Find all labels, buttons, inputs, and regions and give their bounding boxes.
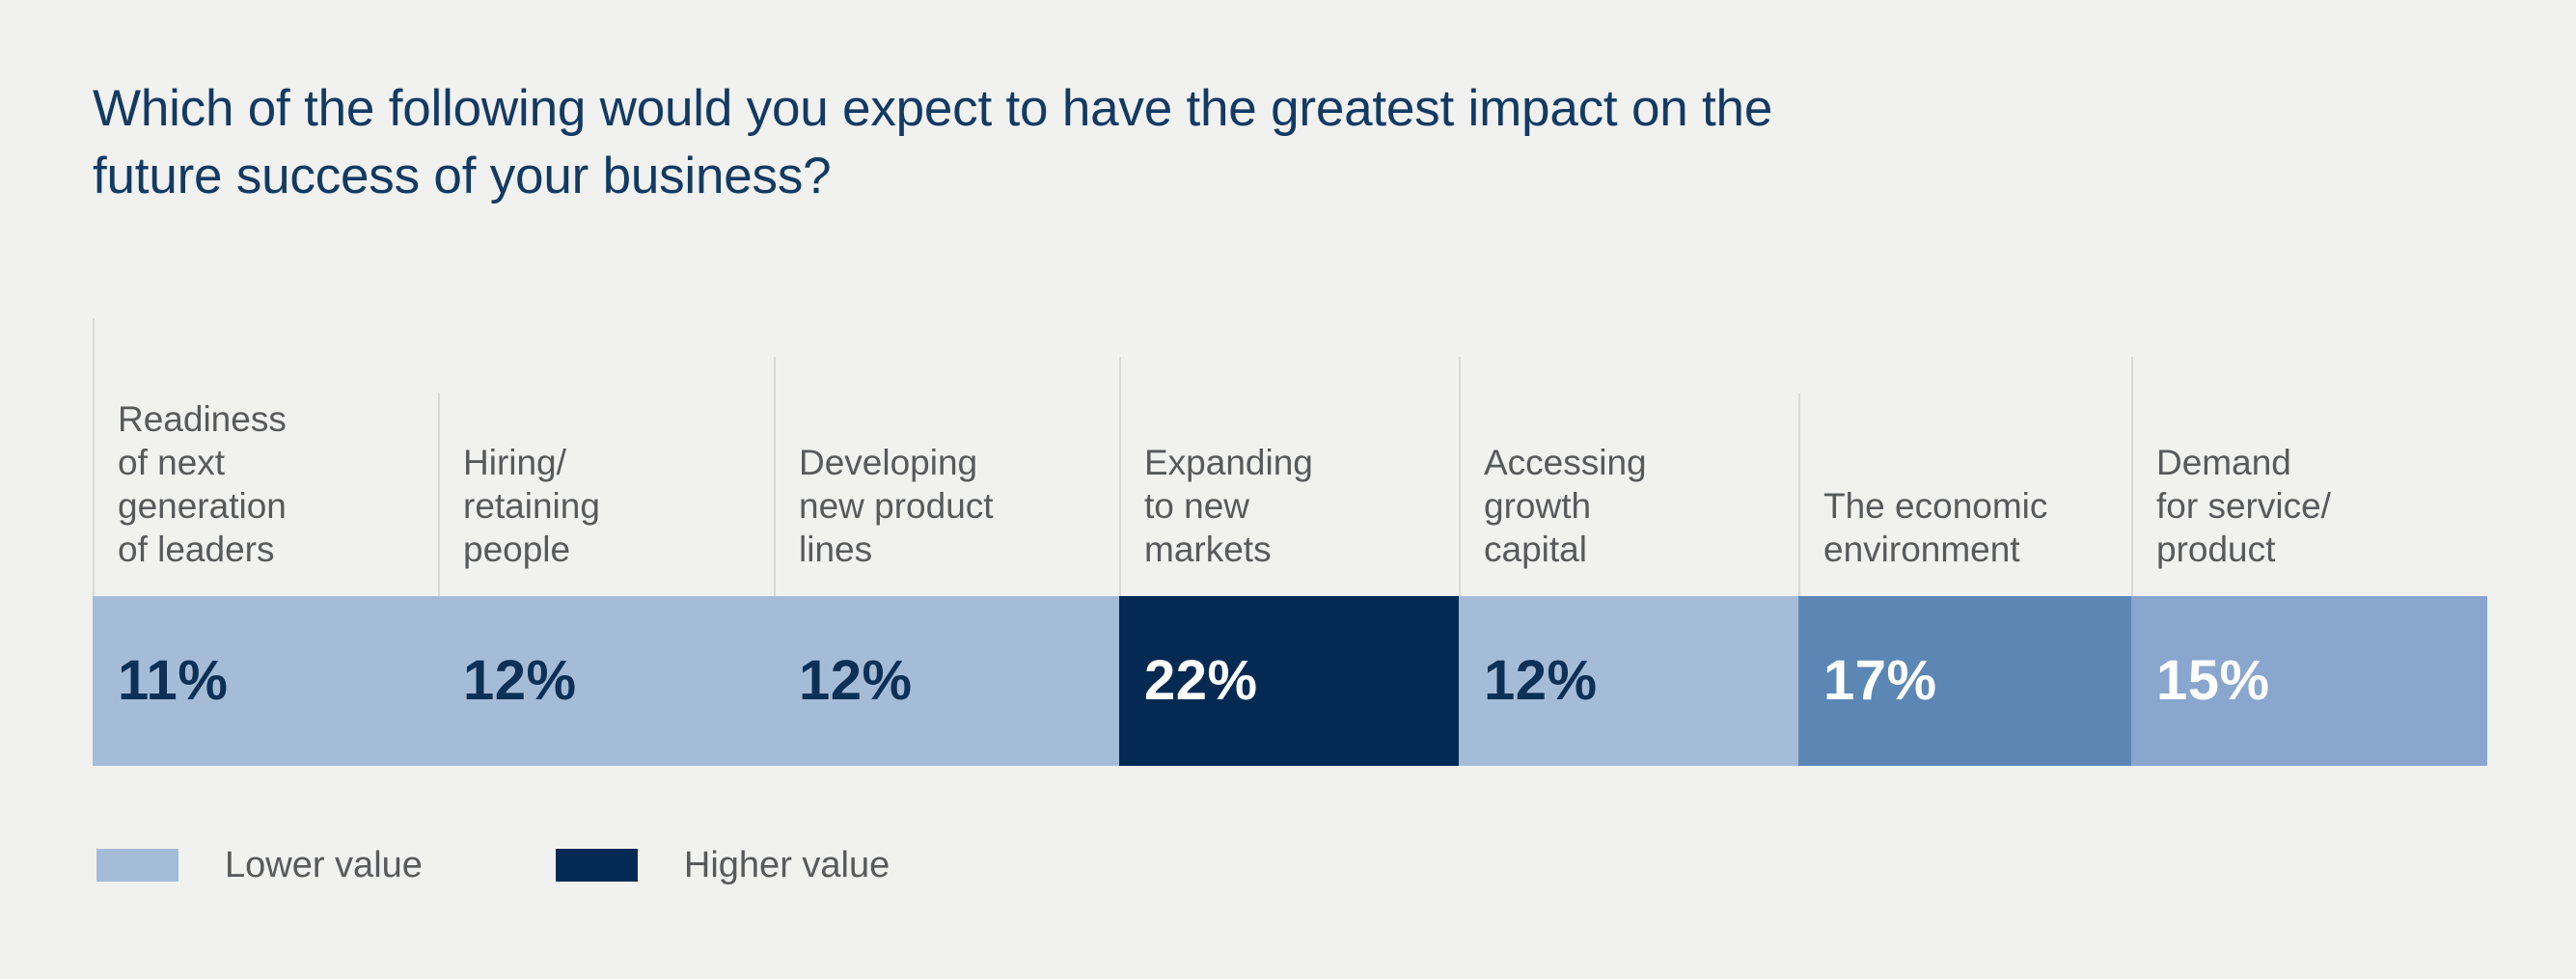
value-cell[interactable]: 15% bbox=[2131, 596, 2487, 766]
column-header: Demand for service/ product bbox=[2131, 318, 2487, 596]
value-label: 12% bbox=[463, 653, 577, 709]
page-title: Which of the following would you expect … bbox=[93, 75, 2022, 211]
value-cell[interactable]: 17% bbox=[1798, 596, 2131, 766]
matrix-column-accessing-growth-capital[interactable]: Accessing growth capital 12% bbox=[1459, 318, 1798, 766]
legend-item-lower-value: Lower value bbox=[96, 847, 423, 884]
column-header-label: Expanding to new markets bbox=[1144, 441, 1313, 571]
column-header-label: The economic environment bbox=[1823, 484, 2047, 571]
value-label: 11% bbox=[118, 653, 228, 709]
chart-legend: Lower value Higher value bbox=[96, 847, 1023, 884]
matrix-column-developing-new-product-lines[interactable]: Developing new product lines 12% bbox=[774, 318, 1119, 766]
value-label: 12% bbox=[799, 653, 913, 709]
column-header-label: Readiness of next generation of leaders bbox=[118, 397, 287, 572]
matrix-column-expanding-to-new-markets[interactable]: Expanding to new markets 22% bbox=[1119, 318, 1459, 766]
value-cell-highest[interactable]: 22% bbox=[1119, 596, 1459, 766]
chart-page: Which of the following would you expect … bbox=[0, 0, 2576, 979]
column-header-label: Accessing growth capital bbox=[1484, 441, 1647, 571]
matrix-column-hiring-retaining-people[interactable]: Hiring/ retaining people 12% bbox=[438, 318, 774, 766]
column-header: Readiness of next generation of leaders bbox=[93, 318, 438, 596]
column-header-label: Hiring/ retaining people bbox=[463, 441, 600, 571]
value-label: 12% bbox=[1484, 653, 1598, 709]
column-header-label: Developing new product lines bbox=[799, 441, 994, 571]
category-matrix: Readiness of next generation of leaders … bbox=[93, 318, 2487, 766]
value-label: 15% bbox=[2156, 653, 2270, 709]
matrix-column-readiness-of-next-generation-of-leaders[interactable]: Readiness of next generation of leaders … bbox=[93, 318, 438, 766]
column-header-label: Demand for service/ product bbox=[2156, 441, 2331, 571]
column-header: Accessing growth capital bbox=[1459, 318, 1798, 596]
value-cell[interactable]: 11% bbox=[93, 596, 438, 766]
legend-swatch-lower-value bbox=[96, 849, 178, 882]
column-header: Hiring/ retaining people bbox=[438, 318, 774, 596]
value-label: 17% bbox=[1823, 653, 1937, 709]
matrix-column-the-economic-environment[interactable]: The economic environment 17% bbox=[1798, 318, 2131, 766]
value-cell[interactable]: 12% bbox=[438, 596, 774, 766]
value-label: 22% bbox=[1144, 653, 1258, 709]
column-header: Developing new product lines bbox=[774, 318, 1119, 596]
column-header: Expanding to new markets bbox=[1119, 318, 1459, 596]
column-header: The economic environment bbox=[1798, 318, 2131, 596]
legend-label-lower-value: Lower value bbox=[225, 847, 423, 884]
value-cell[interactable]: 12% bbox=[1459, 596, 1798, 766]
matrix-column-demand-for-service-product[interactable]: Demand for service/ product 15% bbox=[2131, 318, 2487, 766]
legend-swatch-higher-value bbox=[556, 849, 638, 882]
legend-item-higher-value: Higher value bbox=[556, 847, 890, 884]
value-cell[interactable]: 12% bbox=[774, 596, 1119, 766]
legend-label-higher-value: Higher value bbox=[684, 847, 890, 884]
